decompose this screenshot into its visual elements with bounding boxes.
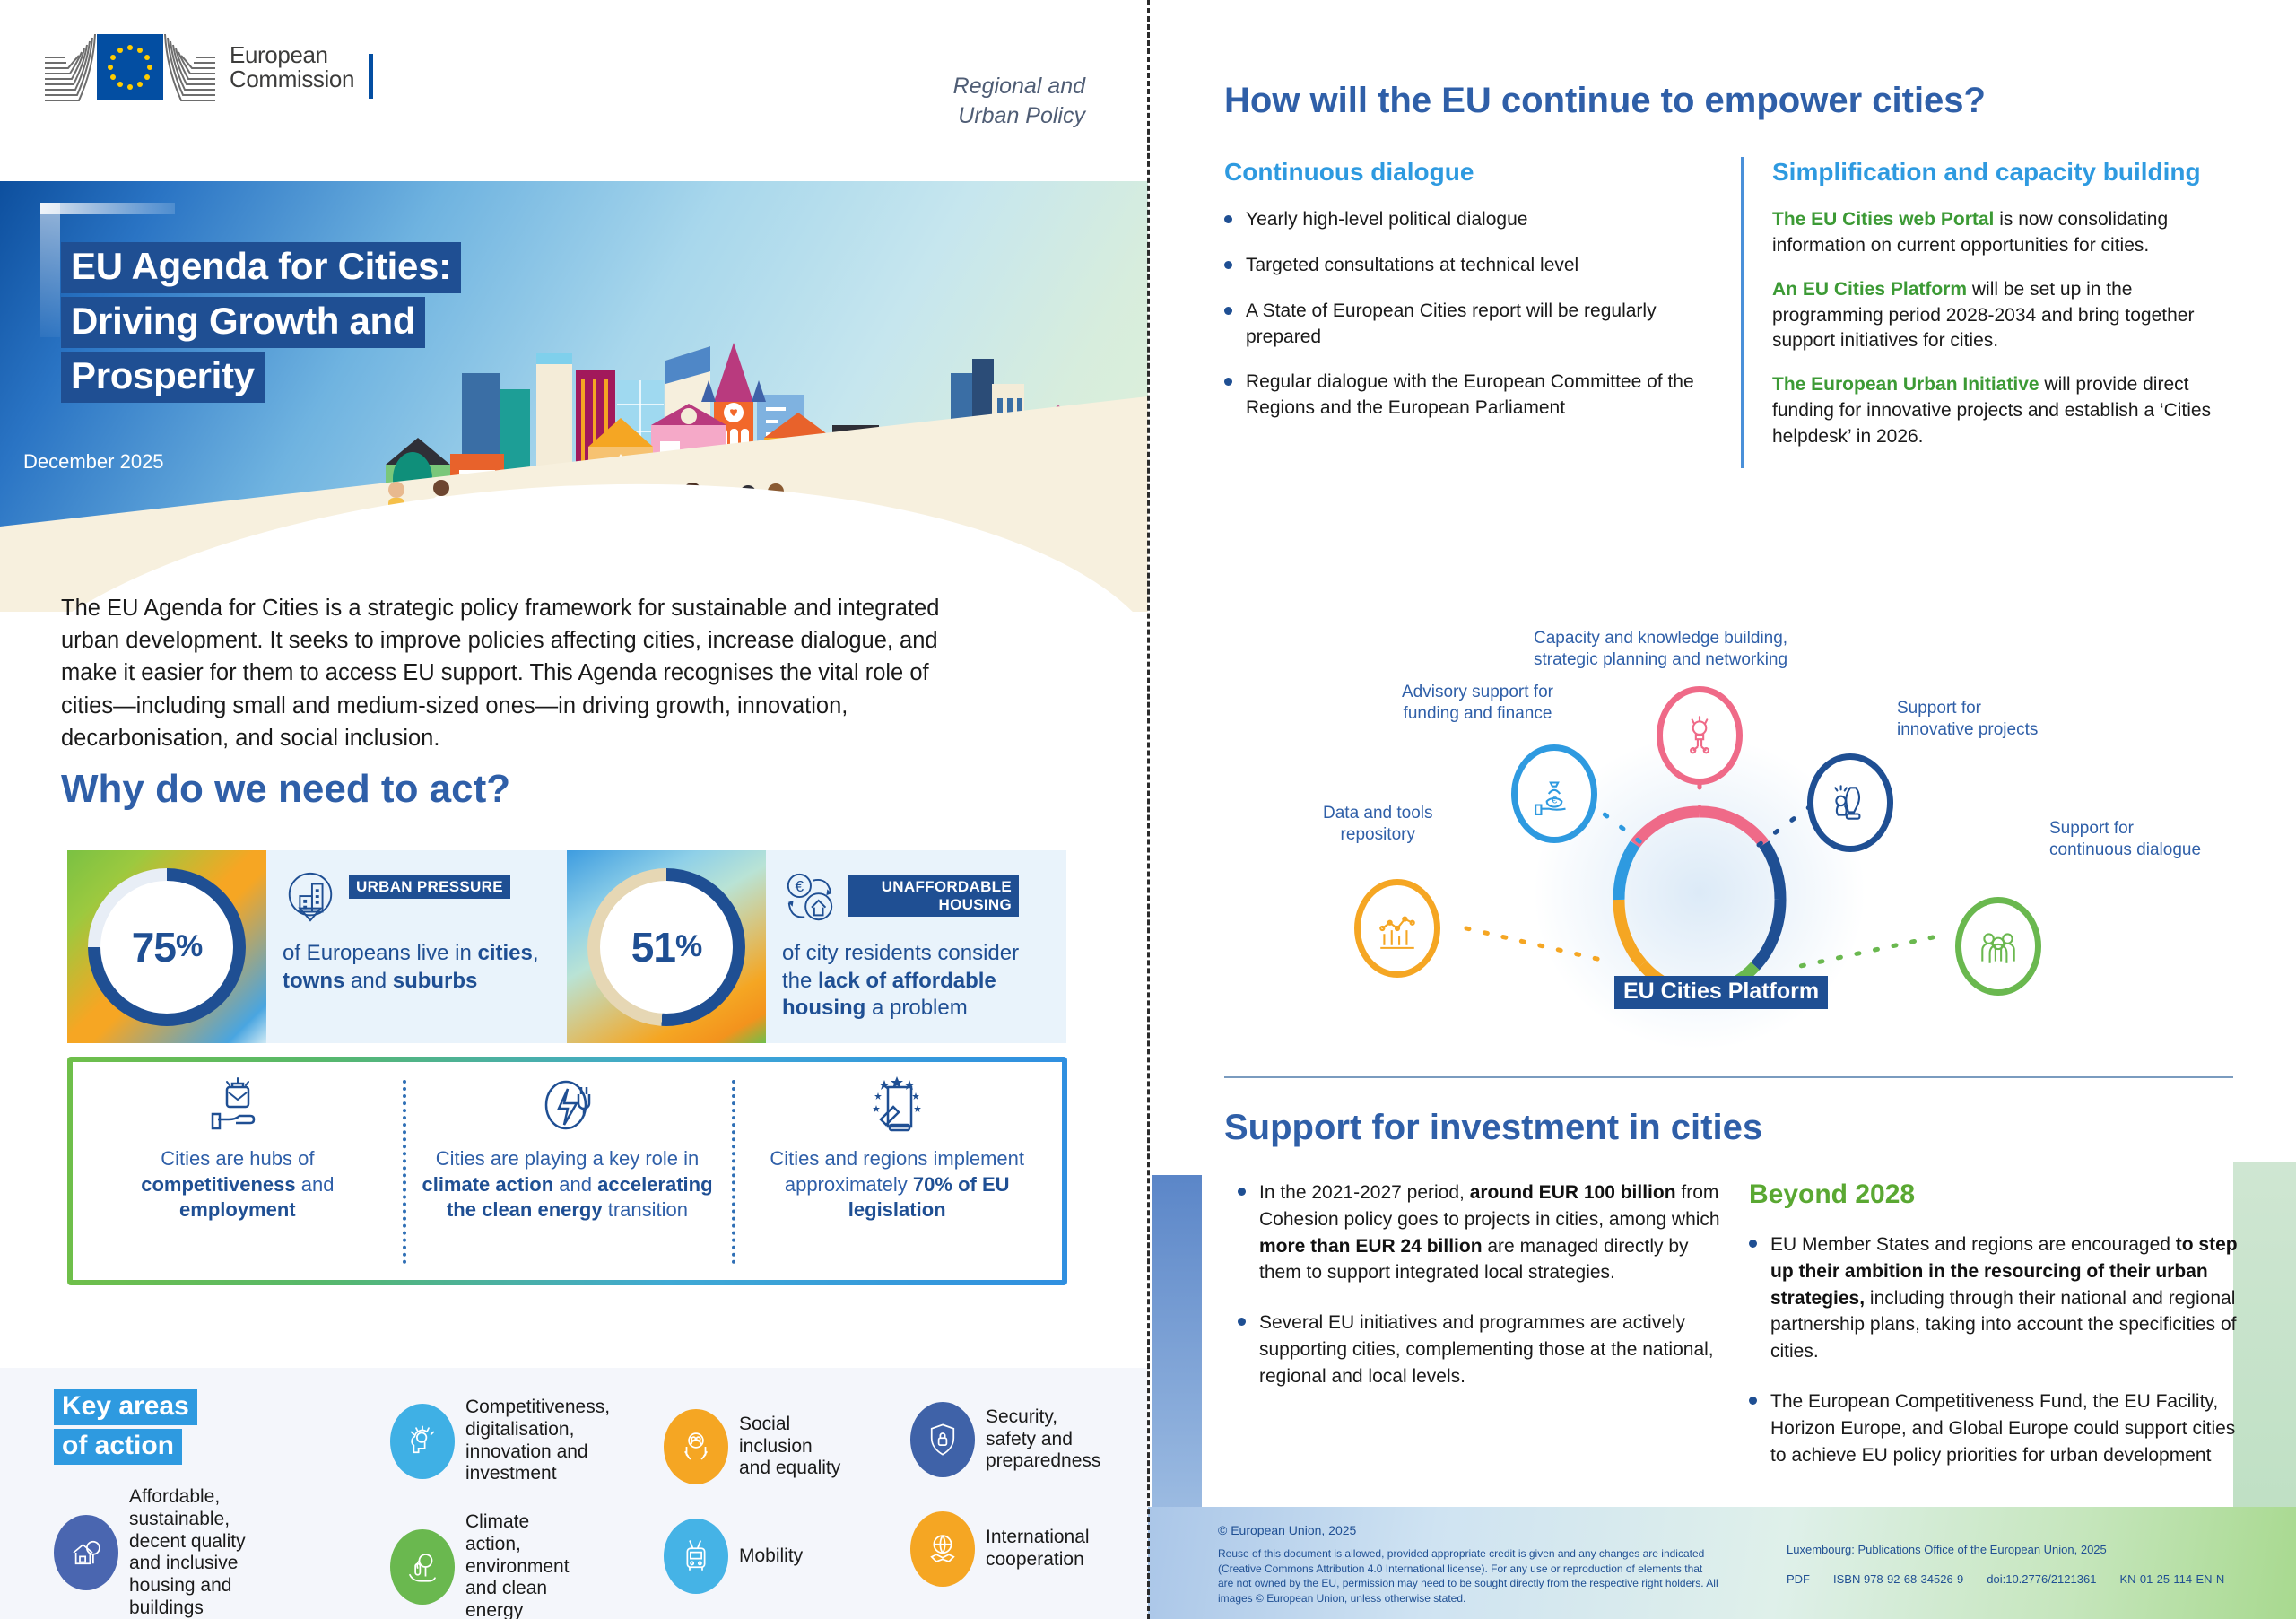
diagram-label-data: Data and toolsrepository bbox=[1323, 803, 1433, 846]
stat-card-unaffordable-housing: 51% € UNA bbox=[567, 850, 1066, 1043]
logo-line-1: European bbox=[230, 43, 354, 67]
gavel-eu-icon bbox=[865, 1075, 929, 1139]
simplification-para-3: The European Urban Initiative will provi… bbox=[1772, 372, 2225, 450]
eu-cities-platform-diagram: Capacity and knowledge building,strategi… bbox=[1152, 538, 2296, 1076]
euro-house-icon: € bbox=[782, 870, 838, 926]
diagram-label-advisory: Advisory support forfunding and finance bbox=[1402, 682, 1553, 725]
eu-flag-icon bbox=[97, 34, 163, 100]
svg-text:€: € bbox=[1552, 795, 1558, 805]
lightbulb-network-icon bbox=[1657, 686, 1743, 785]
shield-lock-icon bbox=[910, 1402, 975, 1477]
simplification-para-2: An EU Cities Platform will be set up in … bbox=[1772, 277, 2225, 355]
stat-card-urban-pressure: 75% URBAN PRESSURE bbox=[67, 850, 567, 1043]
diagram-center-label: EU Cities Platform bbox=[1614, 976, 1828, 1009]
stat-text-urban-pressure: of Europeans live in cities, towns and s… bbox=[283, 940, 547, 995]
logo-line-2: Commission bbox=[230, 67, 354, 91]
key-areas-section: Key areas of action Competitiveness, dig… bbox=[0, 1368, 1148, 1619]
facts-box: Cities are hubs of competitiveness and e… bbox=[67, 1057, 1067, 1285]
page-footer: © European Union, 2025 Reuse of this doc… bbox=[1148, 1507, 2296, 1619]
key-area-security[interactable]: Security, safety and preparedness bbox=[910, 1402, 1099, 1477]
footer-catalogue: KN-01-25-114-EN-N bbox=[2119, 1572, 2224, 1586]
lead-text: The European Urban Initiative bbox=[1772, 374, 2039, 395]
key-area-mobility[interactable]: Mobility bbox=[664, 1519, 825, 1594]
hero-title-line-3: Prosperity bbox=[61, 352, 265, 403]
key-area-label: Competitiveness, digitalisation, innovat… bbox=[465, 1397, 610, 1485]
diagram-node-innovative[interactable] bbox=[1807, 753, 1893, 852]
hero-title-line-2: Driving Growth and bbox=[61, 297, 425, 348]
people-group-icon bbox=[1955, 897, 2041, 996]
hero-date: December 2025 bbox=[23, 450, 164, 474]
simplification-column: Simplification and capacity building The… bbox=[1741, 157, 2225, 468]
key-area-housing[interactable]: Affordable, sustainable, decent quality … bbox=[54, 1486, 278, 1619]
stats-row: 75% URBAN PRESSURE bbox=[67, 850, 1067, 1043]
fact-competitiveness: Cities are hubs of competitiveness and e… bbox=[73, 1062, 403, 1280]
hero-accent-vertical bbox=[40, 203, 60, 337]
footer-isbn: ISBN 978-92-68-34526-9 bbox=[1833, 1572, 1963, 1586]
donut-chart-75: 75% bbox=[88, 868, 246, 1026]
list-item: A State of European Cities report will b… bbox=[1224, 299, 1709, 351]
key-areas-grid: Competitiveness, digitalisation, innovat… bbox=[36, 1386, 1148, 1610]
hero-banner: EU Agenda for Cities: Driving Growth and… bbox=[0, 181, 1148, 612]
lead-text: The EU Cities web Portal bbox=[1772, 209, 1994, 230]
empower-columns: Continuous dialogue Yearly high-level po… bbox=[1224, 157, 2229, 468]
investment-divider bbox=[1224, 1076, 2233, 1078]
donut-gradient-backdrop-2: 51% bbox=[567, 850, 766, 1043]
diagram-node-data[interactable] bbox=[1354, 879, 1440, 978]
key-area-climate[interactable]: Climate action, environment and clean en… bbox=[390, 1511, 578, 1619]
footer-copyright: © European Union, 2025 bbox=[1218, 1523, 1720, 1537]
city-pin-icon bbox=[283, 870, 338, 926]
bar-chart-icon bbox=[1354, 879, 1440, 978]
intro-paragraph: The EU Agenda for Cities is a strategic … bbox=[61, 592, 958, 754]
continuous-dialogue-heading: Continuous dialogue bbox=[1224, 157, 1709, 187]
brain-head-icon bbox=[390, 1404, 455, 1479]
simplification-heading: Simplification and capacity building bbox=[1772, 157, 2225, 187]
footer-doi: doi:10.2776/2121361 bbox=[1987, 1572, 2096, 1586]
dg-policy-label: Regional and Urban Policy bbox=[942, 72, 1085, 130]
list-item: Yearly high-level political dialogue bbox=[1224, 207, 1709, 233]
hands-people-icon bbox=[664, 1409, 728, 1484]
donut-gradient-backdrop-1: 75% bbox=[67, 850, 266, 1043]
hero-title: EU Agenda for Cities: Driving Growth and… bbox=[61, 242, 461, 406]
svg-text:€: € bbox=[796, 877, 804, 895]
investment-left-column: In the 2021-2027 period, around EUR 100 … bbox=[1238, 1179, 1722, 1493]
list-item: Several EU initiatives and programmes ar… bbox=[1238, 1310, 1722, 1389]
empower-heading: How will the EU continue to empower citi… bbox=[1224, 81, 1986, 121]
dg-line-2: Urban Policy bbox=[942, 101, 1085, 131]
ec-fan-left-icon bbox=[43, 32, 97, 102]
footer-format: PDF bbox=[1787, 1572, 1810, 1586]
list-item: Targeted consultations at technical leve… bbox=[1224, 253, 1709, 279]
european-commission-logo: European Commission bbox=[43, 32, 373, 102]
key-area-competitiveness[interactable]: Competitiveness, digitalisation, innovat… bbox=[390, 1397, 596, 1485]
lead-text: An EU Cities Platform bbox=[1772, 279, 1967, 300]
footer-identifiers: PDF ISBN 978-92-68-34526-9 doi:10.2776/2… bbox=[1787, 1572, 2224, 1586]
house-tree-icon bbox=[54, 1515, 118, 1590]
donut-value-51: 51% bbox=[587, 868, 745, 1026]
fact-competitiveness-text: Cities are hubs of competitiveness and e… bbox=[89, 1146, 387, 1223]
diagram-label-dialogue: Support forcontinuous dialogue bbox=[2049, 818, 2201, 861]
fact-climate-action-text: Cities are playing a key role in climate… bbox=[419, 1146, 717, 1223]
dg-line-1: Regional and bbox=[942, 72, 1085, 101]
hero-title-line-1: EU Agenda for Cities: bbox=[61, 242, 461, 293]
footer-publisher: Luxembourg: Publications Office of the E… bbox=[1787, 1543, 2224, 1556]
chess-rocket-icon bbox=[1807, 753, 1893, 852]
energy-plug-icon bbox=[535, 1075, 600, 1139]
ec-fan-right-icon bbox=[163, 32, 217, 102]
beyond-2028-heading: Beyond 2028 bbox=[1749, 1179, 2238, 1210]
logo-blue-bar bbox=[369, 54, 373, 99]
hero-accent-horizontal bbox=[40, 203, 175, 214]
list-item: The European Competitiveness Fund, the E… bbox=[1749, 1388, 2238, 1468]
key-area-label: International cooperation bbox=[986, 1527, 1090, 1571]
globe-handshake-icon bbox=[910, 1511, 975, 1587]
diagram-node-dialogue[interactable] bbox=[1955, 897, 2041, 996]
fact-eu-legislation: Cities and regions implement approximate… bbox=[732, 1062, 1062, 1280]
fact-climate-action: Cities are playing a key role in climate… bbox=[403, 1062, 733, 1280]
money-bag-hand-icon: € bbox=[1511, 744, 1597, 843]
stat-text-unaffordable-housing: of city residents consider the lack of a… bbox=[782, 940, 1047, 1023]
diagram-node-advisory[interactable]: € bbox=[1511, 744, 1597, 843]
diagram-label-innovative: Support forinnovative projects bbox=[1897, 698, 2038, 741]
investment-columns: In the 2021-2027 period, around EUR 100 … bbox=[1238, 1179, 2247, 1493]
footer-right: Luxembourg: Publications Office of the E… bbox=[1787, 1543, 2224, 1586]
tram-icon bbox=[664, 1519, 728, 1594]
investment-right-column: Beyond 2028 EU Member States and regions… bbox=[1749, 1179, 2238, 1493]
left-page: European Commission Regional and Urban P… bbox=[0, 0, 1148, 1619]
page-fold-line bbox=[1147, 0, 1150, 1619]
investment-right-list: EU Member States and regions are encoura… bbox=[1749, 1232, 2238, 1469]
logo-wordmark: European Commission bbox=[230, 43, 354, 91]
key-area-label: Social inclusion and equality bbox=[739, 1414, 843, 1480]
continuous-dialogue-list: Yearly high-level political dialogue Tar… bbox=[1224, 207, 1709, 422]
list-item: Regular dialogue with the European Commi… bbox=[1224, 370, 1709, 422]
donut-value-75: 75% bbox=[88, 868, 246, 1026]
stat-tag-urban-pressure: URBAN PRESSURE bbox=[349, 875, 510, 899]
stat-body-urban-pressure: URBAN PRESSURE of Europeans live in citi… bbox=[266, 850, 567, 1043]
continuous-dialogue-column: Continuous dialogue Yearly high-level po… bbox=[1224, 157, 1709, 468]
key-area-social-inclusion[interactable]: Social inclusion and equality bbox=[664, 1409, 843, 1484]
fact-eu-legislation-text: Cities and regions implement approximate… bbox=[748, 1146, 1046, 1223]
hand-plant-icon bbox=[390, 1529, 455, 1605]
investment-left-list: In the 2021-2027 period, around EUR 100 … bbox=[1238, 1179, 1722, 1390]
diagram-label-capacity: Capacity and knowledge building,strategi… bbox=[1534, 628, 1787, 671]
hand-briefcase-icon bbox=[205, 1075, 270, 1139]
footer-left: © European Union, 2025 Reuse of this doc… bbox=[1218, 1523, 1720, 1606]
list-item: EU Member States and regions are encoura… bbox=[1749, 1232, 2238, 1365]
simplification-para-1: The EU Cities web Portal is now consolid… bbox=[1772, 207, 2225, 259]
donut-chart-51: 51% bbox=[587, 868, 745, 1026]
key-area-label: Security, safety and preparedness bbox=[986, 1406, 1100, 1473]
stat-tag-unaffordable-housing: UNAFFORDABLE HOUSING bbox=[848, 875, 1019, 917]
diagram-node-capacity[interactable] bbox=[1657, 686, 1743, 785]
key-area-label: Affordable, sustainable, decent quality … bbox=[129, 1486, 278, 1619]
why-heading: Why do we need to act? bbox=[61, 767, 510, 812]
key-area-label: Climate action, environment and clean en… bbox=[465, 1511, 578, 1619]
stat-body-unaffordable-housing: € UNAFFORDABLE HOUSING of city residents… bbox=[766, 850, 1066, 1043]
list-item: In the 2021-2027 period, around EUR 100 … bbox=[1238, 1179, 1722, 1286]
key-area-label: Mobility bbox=[739, 1545, 803, 1568]
footer-reuse-notice: Reuse of this document is allowed, provi… bbox=[1218, 1546, 1720, 1606]
investment-heading: Support for investment in cities bbox=[1224, 1108, 1762, 1148]
key-area-international[interactable]: International cooperation bbox=[910, 1511, 1090, 1587]
